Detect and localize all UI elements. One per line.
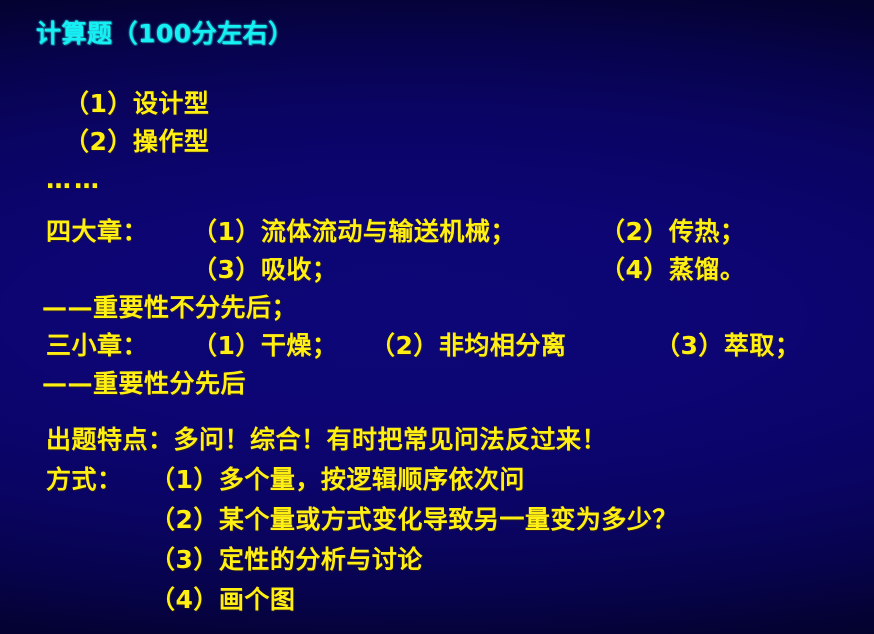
slide-title: 计算题（100分左右） — [36, 21, 294, 46]
three-chapters-item-1: （1）干燥； — [192, 333, 337, 358]
method-item-1: （1）多个量，按逻辑顺序依次问 — [150, 467, 525, 492]
ellipsis-marker: …… — [46, 167, 102, 192]
four-chapters-item-2: （2）传热； — [600, 219, 745, 244]
three-chapters-label: 三小章： — [46, 333, 148, 358]
method-item-2: （2）某个量或方式变化导致另一量变为多少？ — [150, 507, 678, 532]
exam-features-line: 出题特点：多问！综合！有时把常见问法反过来！ — [46, 427, 607, 452]
list-item-operation-type: （2）操作型 — [64, 129, 209, 154]
note-importance-unordered: ——重要性不分先后； — [42, 295, 297, 320]
list-item-design-type: （1）设计型 — [64, 91, 209, 116]
method-item-3: （3）定性的分析与讨论 — [150, 547, 423, 572]
four-chapters-item-3: （3）吸收； — [192, 257, 337, 282]
four-chapters-label: 四大章： — [46, 219, 148, 244]
three-chapters-item-3: （3）萃取； — [655, 333, 800, 358]
method-item-4: （4）画个图 — [150, 587, 295, 612]
four-chapters-item-4: （4）蒸馏。 — [600, 257, 745, 282]
slide-canvas: 计算题（100分左右） （1）设计型 （2）操作型 …… 四大章： （1）流体流… — [0, 0, 874, 634]
methods-label: 方式： — [46, 467, 123, 492]
note-importance-ordered: ——重要性分先后 — [42, 371, 246, 396]
four-chapters-item-1: （1）流体流动与输送机械； — [192, 219, 516, 244]
three-chapters-item-2: （2）非均相分离 — [370, 333, 566, 358]
